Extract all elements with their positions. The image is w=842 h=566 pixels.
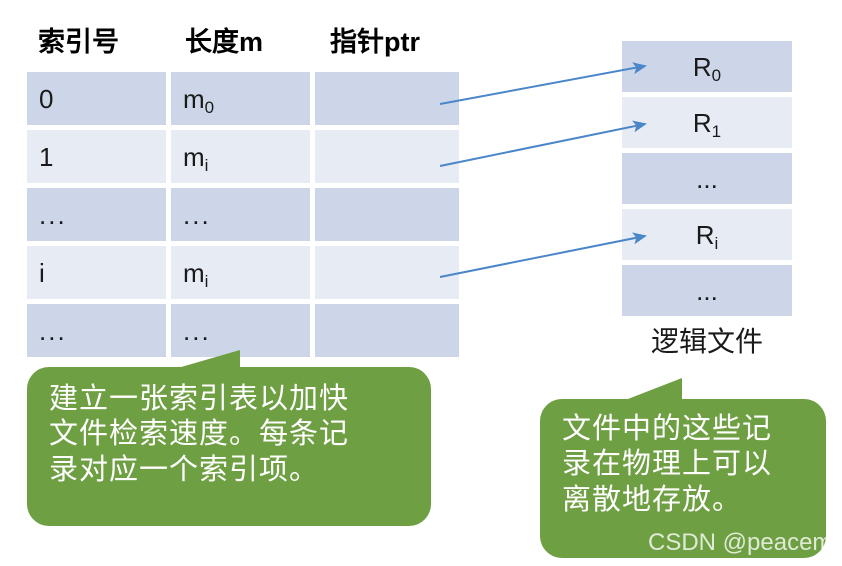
column-header-index-number: 索引号 bbox=[38, 20, 119, 59]
table-row: i mi bbox=[27, 246, 459, 299]
record-label: ... bbox=[622, 278, 792, 304]
cell-pointer bbox=[315, 72, 459, 125]
cell-value: ... bbox=[39, 202, 67, 228]
cell-value: mi bbox=[183, 144, 208, 170]
cell-length: m0 bbox=[171, 72, 310, 125]
cell-value: ... bbox=[183, 318, 211, 344]
cell-pointer bbox=[315, 246, 459, 299]
cell-pointer bbox=[315, 188, 459, 241]
record-box: R1 bbox=[622, 97, 792, 148]
record-box: ... bbox=[622, 153, 792, 204]
cell-index-number: 0 bbox=[27, 72, 166, 125]
logical-file-column: R0 R1 ... Ri ... bbox=[622, 41, 792, 321]
index-table-header-row: 索引号 长度m 指针ptr bbox=[27, 20, 459, 72]
callout-right-text: 文件中的这些记 录在物理上可以 离散地存放。 bbox=[562, 412, 812, 518]
logical-file-caption: 逻辑文件 bbox=[622, 320, 792, 360]
pointer-arrow-1 bbox=[440, 124, 645, 166]
callout-left: 建立一张索引表以加快 文件检索速度。每条记 录对应一个索引项。 bbox=[27, 367, 431, 526]
cell-pointer bbox=[315, 304, 459, 357]
record-label: R1 bbox=[622, 110, 792, 136]
cell-index-number: i bbox=[27, 246, 166, 299]
cell-value: ... bbox=[39, 318, 67, 344]
record-box: R0 bbox=[622, 41, 792, 92]
record-label: ... bbox=[622, 166, 792, 192]
pointer-arrow-2 bbox=[440, 236, 645, 277]
table-row: ... ... bbox=[27, 188, 459, 241]
column-header-pointer: 指针ptr bbox=[330, 20, 420, 59]
table-row: ... ... bbox=[27, 304, 459, 357]
table-row: 0 m0 bbox=[27, 72, 459, 125]
cell-length: mi bbox=[171, 130, 310, 183]
index-table: 索引号 长度m 指针ptr 0 m0 1 mi bbox=[27, 20, 459, 362]
cell-index-number: 1 bbox=[27, 130, 166, 183]
cell-value: 0 bbox=[39, 86, 53, 112]
callout-left-text: 建立一张索引表以加快 文件检索速度。每条记 录对应一个索引项。 bbox=[49, 382, 419, 488]
record-label: Ri bbox=[622, 222, 792, 248]
diagram-canvas: 索引号 长度m 指针ptr 0 m0 1 mi bbox=[0, 0, 842, 566]
cell-value: m0 bbox=[183, 86, 214, 112]
table-row: 1 mi bbox=[27, 130, 459, 183]
pointer-arrow-0 bbox=[440, 66, 645, 104]
cell-pointer bbox=[315, 130, 459, 183]
column-header-length: 长度m bbox=[185, 20, 263, 59]
record-label: R0 bbox=[622, 54, 792, 80]
cell-length: mi bbox=[171, 246, 310, 299]
cell-index-number: ... bbox=[27, 304, 166, 357]
cell-value: ... bbox=[183, 202, 211, 228]
cell-value: mi bbox=[183, 260, 208, 286]
record-box: ... bbox=[622, 265, 792, 316]
cell-value: 1 bbox=[39, 144, 53, 170]
watermark: CSDN @peacemaple bbox=[648, 529, 842, 557]
cell-index-number: ... bbox=[27, 188, 166, 241]
cell-value: i bbox=[39, 260, 45, 286]
cell-length: ... bbox=[171, 188, 310, 241]
record-box: Ri bbox=[622, 209, 792, 260]
